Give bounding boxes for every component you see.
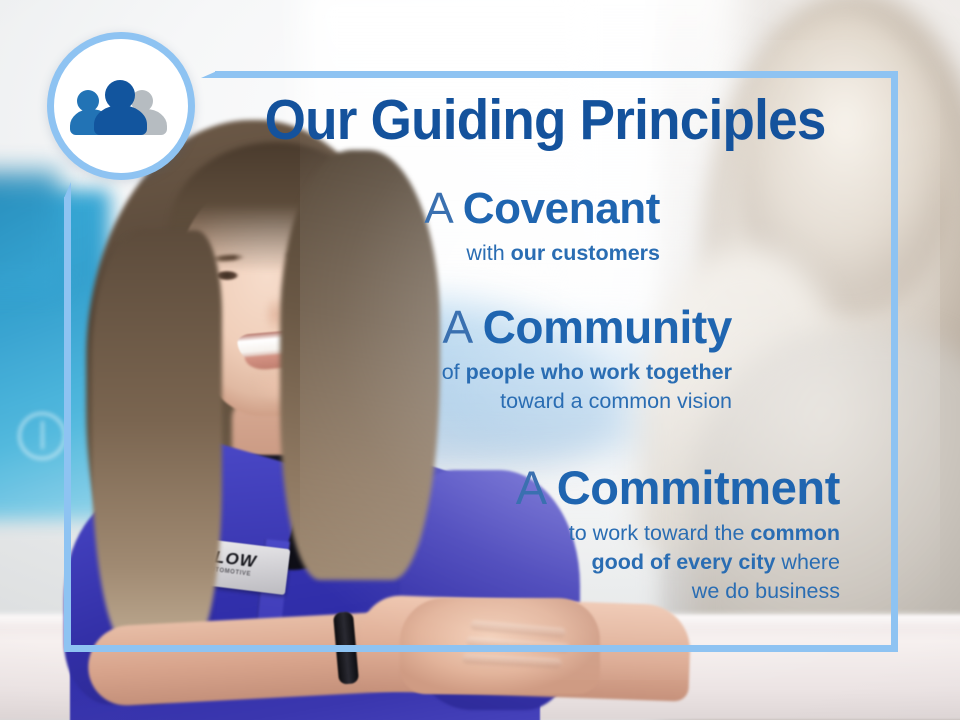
principle-covenant-sub-prefix: with <box>466 241 510 265</box>
principle-commitment-sub-line1-bold: common <box>750 521 840 545</box>
principle-commitment-sub-line2-bold: good of every city <box>591 550 775 574</box>
principle-commitment-sub-line2-suffix: where <box>775 550 840 574</box>
principle-community-sub-line1-prefix: of <box>442 360 466 384</box>
principle-commitment-sub-line3: we do business <box>516 577 840 606</box>
principle-commitment-sub-line1-prefix: to work toward the <box>569 521 751 545</box>
principle-commitment-subtext: to work toward the common good of every … <box>516 519 840 606</box>
principle-covenant-keyword: Covenant <box>463 184 660 233</box>
principle-community-sub-line1: of people who work together <box>442 358 732 387</box>
principle-commitment-heading: A Commitment <box>516 463 840 513</box>
principle-community: A Community of people who work together … <box>442 303 732 416</box>
principle-covenant: A Covenant with our customers <box>424 186 660 268</box>
guiding-principles-graphic: FLOW AUTOMOTIVE FLOW <box>0 0 960 720</box>
principle-commitment-keyword: Commitment <box>557 461 840 514</box>
principles-list: A Covenant with our customers A Communit… <box>0 0 960 720</box>
principle-community-heading: A Community <box>442 303 732 352</box>
principle-covenant-sub-bold: our customers <box>511 241 660 265</box>
principle-commitment-lead: A <box>516 461 557 514</box>
principle-community-sub-line2: toward a common vision <box>442 387 732 416</box>
principle-commitment-sub-line1: to work toward the common <box>516 519 840 548</box>
principle-commitment-sub-line2: good of every city where <box>516 548 840 577</box>
principle-covenant-lead: A <box>424 184 462 233</box>
principle-community-lead: A <box>442 301 482 353</box>
principle-community-sub-line1-bold: people who work together <box>466 360 732 384</box>
principle-community-subtext: of people who work together toward a com… <box>442 358 732 416</box>
principle-commitment: A Commitment to work toward the common g… <box>516 463 840 606</box>
principle-covenant-subtext: with our customers <box>424 239 660 268</box>
principle-covenant-heading: A Covenant <box>424 186 660 233</box>
principle-community-keyword: Community <box>483 301 732 353</box>
